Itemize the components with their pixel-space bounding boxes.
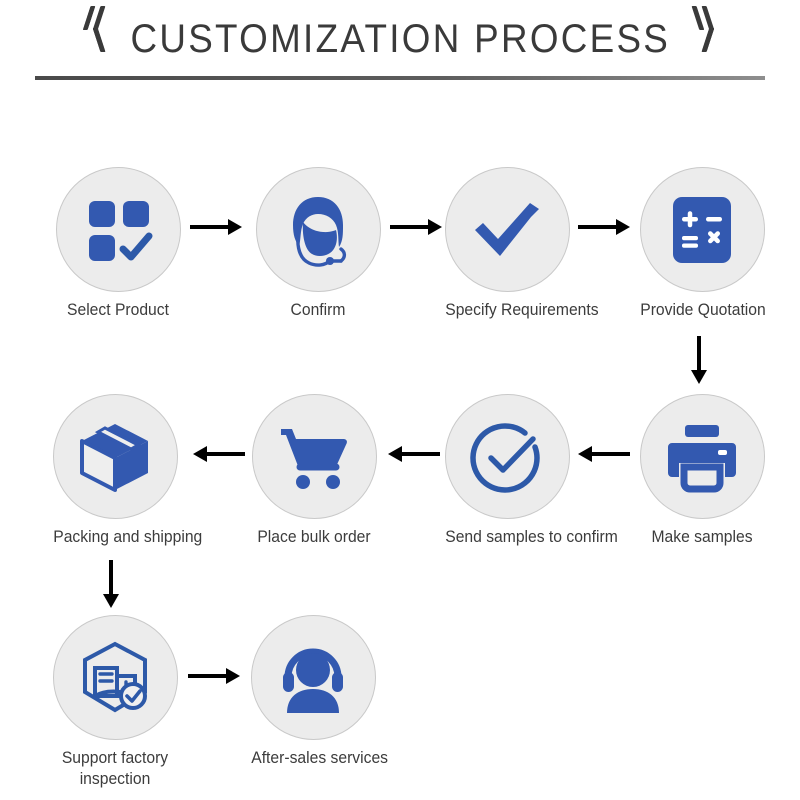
step-icon-circle [445, 394, 570, 519]
grid-squares-check-icon [81, 193, 155, 267]
headset-operator-icon [279, 191, 357, 269]
arrow-down-left [103, 560, 119, 608]
arrow-left-2 [388, 446, 440, 462]
step-label: Make samples [640, 527, 764, 548]
step-label: Place bulk order [252, 527, 376, 548]
step-icon-circle [445, 167, 570, 292]
step-node-place-bulk-order[interactable]: Place bulk order [249, 394, 379, 548]
title-divider [35, 76, 765, 80]
step-icon-circle [640, 167, 765, 292]
step-label: Provide Quotation [640, 300, 764, 321]
step-node-factory-inspection[interactable]: Support factory inspection [50, 615, 180, 790]
step-label: Send samples to confirm [445, 527, 569, 548]
step-node-select-product[interactable]: Select Product [53, 167, 183, 321]
page-title: CUSTOMIZATION PROCESS [130, 17, 670, 62]
step-node-packing-shipping[interactable]: Packing and shipping [50, 394, 180, 548]
double-chevron-left-icon [693, 13, 723, 65]
arrow-right-3 [578, 219, 630, 235]
calculator-icon [667, 195, 737, 265]
step-label: Specify Requirements [445, 300, 569, 321]
step-icon-circle [53, 615, 178, 740]
step-label: Support factory inspection [44, 748, 187, 790]
arrow-left-3 [193, 446, 245, 462]
step-node-provide-quotation[interactable]: Provide Quotation [637, 167, 767, 321]
step-icon-circle [251, 615, 376, 740]
double-chevron-right-icon [77, 13, 107, 65]
arrow-right-2 [390, 219, 442, 235]
diagram-header: CUSTOMIZATION PROCESS [0, 0, 800, 90]
step-label: Confirm [256, 300, 380, 321]
step-node-send-samples[interactable]: Send samples to confirm [442, 394, 572, 548]
arrow-down-right [691, 336, 707, 384]
step-icon-circle [56, 167, 181, 292]
title-row: CUSTOMIZATION PROCESS [0, 10, 800, 68]
step-label: Select Product [56, 300, 180, 321]
step-label: Packing and shipping [53, 527, 177, 548]
step-icon-circle [256, 167, 381, 292]
step-node-confirm[interactable]: Confirm [253, 167, 383, 321]
printer-icon [664, 419, 740, 495]
step-icon-circle [252, 394, 377, 519]
step-node-after-sales[interactable]: After-sales services [248, 615, 378, 769]
step-icon-circle [640, 394, 765, 519]
step-node-make-samples[interactable]: Make samples [637, 394, 767, 548]
arrow-right-1 [190, 219, 242, 235]
customization-process-diagram: CUSTOMIZATION PROCESS Select Product [0, 0, 800, 800]
factory-inspection-shield-icon [75, 638, 155, 718]
step-label: After-sales services [251, 748, 375, 769]
circle-check-outline-icon [467, 417, 547, 497]
shopping-cart-icon [276, 419, 352, 495]
arrow-right-4 [188, 668, 240, 684]
checkmark-icon [467, 190, 547, 270]
step-icon-circle [53, 394, 178, 519]
package-box-icon [76, 418, 154, 496]
headphones-person-icon [274, 639, 352, 717]
arrow-left-1 [578, 446, 630, 462]
step-node-specify-requirements[interactable]: Specify Requirements [442, 167, 572, 321]
